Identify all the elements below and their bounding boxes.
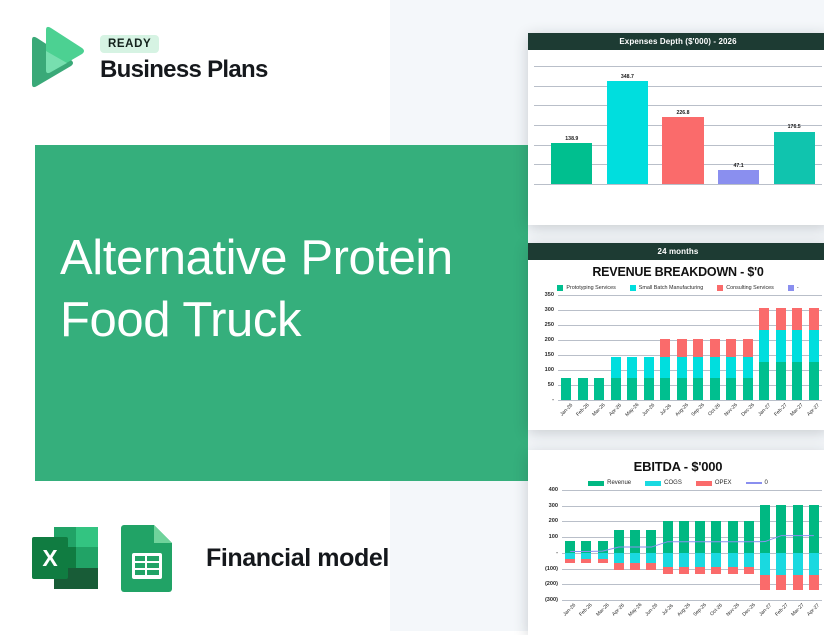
legend-swatch: [717, 285, 723, 291]
stack-segment: [760, 553, 770, 575]
ebitda-x-axis: Jan-26Feb-26Mar-26Apr-26May-26Jun-26Jul-…: [562, 600, 822, 613]
gridline: [534, 184, 822, 185]
legend-swatch: [696, 481, 712, 486]
stack-segment: [760, 505, 770, 553]
legend-label: OPEX: [715, 480, 732, 486]
financial-model-label: Financial model: [206, 544, 389, 573]
bar-segment: [718, 170, 759, 184]
stack-segment: [726, 378, 736, 400]
y-axis-tick-label: 300: [549, 503, 558, 509]
stack-segment: [711, 553, 721, 568]
google-sheets-icon: [116, 523, 182, 593]
revenue-months-header: 24 months: [528, 243, 824, 260]
x-axis-tick-label: Mar-27: [790, 602, 805, 617]
expenses-depth-card: Expenses Depth ($'000) - 2026 138.9348.7…: [528, 33, 824, 225]
x-axis-tick-label: Jun-26: [641, 402, 656, 417]
stack-segment: [614, 530, 624, 553]
x-axis-tick-label: Mar-27: [789, 402, 804, 417]
stacked-bar-column: [562, 490, 578, 600]
legend-swatch: [588, 481, 604, 486]
x-axis-tick: Nov-26: [723, 400, 739, 413]
x-axis-tick: Apr-26: [611, 600, 627, 613]
stacked-bar-column: [641, 295, 658, 400]
play-triangles-logo-icon: [24, 26, 86, 90]
microsoft-excel-icon: X: [32, 523, 98, 593]
x-axis-tick-label: Jun-26: [644, 602, 659, 617]
stack-segment: [565, 559, 575, 563]
stack-segment: [809, 505, 819, 553]
stacked-bar-column: [690, 295, 707, 400]
x-axis-tick: May-26: [624, 400, 641, 413]
legend-item: Consulting Services: [717, 285, 774, 291]
stack-segment: [744, 567, 754, 573]
bar-column: 138.9: [544, 66, 600, 184]
x-axis-tick: Mar-27: [790, 600, 806, 613]
y-axis-tick-label: 100: [545, 367, 554, 373]
stacked-bar-column: [773, 490, 789, 600]
stacked-bar-column: [643, 490, 659, 600]
y-axis-tick-label: 150: [545, 352, 554, 358]
x-axis-tick: Mar-26: [594, 600, 610, 613]
stack-segment: [630, 563, 640, 570]
y-axis-tick-label: 200: [549, 518, 558, 524]
stacked-bar-column: [660, 490, 676, 600]
stack-segment: [660, 339, 670, 357]
expenses-bars: 138.9348.7226.847.1176.5: [544, 66, 822, 184]
stack-segment: [646, 563, 656, 570]
x-axis-tick-label: Nov-26: [725, 602, 741, 618]
bar-segment: [551, 143, 592, 184]
stacked-bar-column: [627, 490, 643, 600]
stack-segment: [660, 378, 670, 400]
bar-value-label: 176.5: [788, 124, 801, 130]
stacked-bar-column: [578, 490, 594, 600]
stacked-bar-column: [558, 295, 575, 400]
stack-segment: [710, 339, 720, 357]
stack-segment: [614, 553, 624, 563]
stacked-bar-column: [756, 295, 773, 400]
stack-segment: [711, 567, 721, 573]
x-axis-tick-label: Nov-26: [723, 402, 739, 418]
y-axis-tick-label: 50: [548, 382, 554, 388]
expenses-chart-title: Expenses Depth ($'000) - 2026: [528, 33, 824, 50]
stack-segment: [679, 567, 689, 573]
legend-item: -: [788, 285, 799, 291]
stack-segment: [792, 362, 802, 400]
x-axis-tick-label: Jan-27: [758, 602, 773, 617]
x-axis-tick: Sep-26: [692, 600, 708, 613]
stack-segment: [663, 567, 673, 573]
x-axis-tick: Dec-26: [741, 600, 757, 613]
legend-label: COGS: [664, 480, 682, 486]
legend-item: OPEX: [696, 480, 732, 486]
stacked-bar-column: [806, 490, 822, 600]
x-axis-tick: Jul-26: [660, 600, 676, 613]
x-axis-tick-label: Jul-26: [661, 603, 675, 617]
bar-column: 47.1: [711, 66, 767, 184]
ebitda-plot-area: 400300200100-(100)(200)(300): [534, 490, 822, 600]
x-axis-tick-label: May-26: [624, 402, 640, 418]
stack-segment: [728, 567, 738, 573]
x-axis-tick-label: Apr-27: [806, 603, 821, 618]
financial-model-row: X Financial model: [32, 523, 389, 593]
y-axis-tick-label: 300: [545, 307, 554, 313]
revenue-x-axis: Jan-26Feb-26Mar-26Apr-26May-26Jun-26Jul-…: [558, 400, 822, 413]
stack-segment: [627, 357, 637, 378]
stack-segment: [809, 575, 819, 590]
bar-value-label: 226.8: [676, 110, 689, 116]
stack-segment: [759, 330, 769, 361]
stack-segment: [726, 357, 736, 378]
revenue-legend: Prototyping ServicesSmall Batch Manufact…: [534, 285, 822, 291]
bar-value-label: 348.7: [621, 74, 634, 80]
stack-segment: [776, 505, 786, 553]
y-axis-tick-label: (100): [545, 566, 558, 572]
legend-label: Consulting Services: [726, 285, 774, 291]
x-axis-tick: Jan-27: [757, 600, 773, 613]
stack-segment: [644, 378, 654, 400]
stacked-bar-column: [773, 295, 790, 400]
stacked-bar-column: [806, 295, 823, 400]
stack-segment: [744, 553, 754, 568]
stacked-bar-column: [575, 295, 592, 400]
stack-segment: [710, 378, 720, 400]
stack-segment: [711, 521, 721, 553]
stack-segment: [598, 559, 608, 563]
ebitda-bars: [562, 490, 822, 600]
x-axis-tick-label: Feb-26: [575, 402, 590, 417]
x-axis-tick: Feb-26: [578, 600, 594, 613]
x-axis-tick: Feb-27: [773, 400, 789, 413]
x-axis-tick: Nov-26: [725, 600, 741, 613]
stack-segment: [663, 521, 673, 553]
stacked-bar-column: [741, 490, 757, 600]
stack-segment: [759, 362, 769, 400]
stack-segment: [581, 559, 591, 563]
stack-segment: [561, 378, 571, 400]
x-axis-tick-label: Jan-27: [757, 402, 772, 417]
ready-badge: READY: [100, 35, 159, 53]
stacked-bar-column: [740, 295, 757, 400]
bar-segment: [774, 132, 815, 184]
x-axis-tick: Apr-27: [805, 400, 821, 413]
ebitda-y-axis: 400300200100-(100)(200)(300): [534, 490, 560, 600]
stack-segment: [594, 378, 604, 400]
stack-segment: [630, 553, 640, 563]
y-axis-tick-label: 200: [545, 337, 554, 343]
stack-segment: [726, 339, 736, 357]
x-axis-tick: Dec-26: [740, 400, 756, 413]
svg-text:X: X: [42, 545, 58, 571]
stacked-bar-column: [708, 490, 724, 600]
x-axis-tick-label: Aug-26: [674, 402, 690, 418]
x-axis-tick: Jan-26: [558, 400, 574, 413]
x-axis-tick-label: Aug-26: [676, 602, 692, 618]
stack-segment: [598, 541, 608, 553]
x-axis-tick-label: Sep-26: [693, 602, 709, 618]
x-axis-tick: Mar-26: [591, 400, 607, 413]
y-axis-tick-label: -: [556, 550, 558, 556]
stack-segment: [759, 308, 769, 330]
x-axis-tick: Aug-26: [674, 400, 690, 413]
x-axis-tick-label: Dec-26: [741, 602, 757, 618]
stack-segment: [646, 553, 656, 563]
ebitda-legend: RevenueCOGSOPEX0: [534, 480, 822, 486]
brand-name: Business Plans: [100, 58, 268, 82]
stack-segment: [793, 553, 803, 575]
stack-segment: [809, 553, 819, 575]
legend-swatch: [630, 285, 636, 291]
legend-label: -: [797, 285, 799, 291]
stack-segment: [695, 521, 705, 553]
legend-swatch: [746, 482, 762, 484]
x-axis-tick: Jun-26: [644, 600, 660, 613]
x-axis-tick-label: Dec-26: [740, 402, 756, 418]
x-axis-tick-label: Mar-26: [591, 402, 606, 417]
legend-item: Small Batch Manufacturing: [630, 285, 703, 291]
revenue-bars: [558, 295, 822, 400]
x-axis-tick-label: May-26: [627, 602, 643, 618]
y-axis-tick-label: 350: [545, 292, 554, 298]
x-axis-tick-label: Apr-26: [611, 603, 626, 618]
stack-segment: [581, 541, 591, 553]
legend-label: Revenue: [607, 480, 631, 486]
stack-segment: [776, 575, 786, 590]
stack-segment: [809, 362, 819, 400]
stack-segment: [679, 553, 689, 568]
stack-segment: [677, 357, 687, 378]
stack-segment: [677, 339, 687, 357]
legend-item: 0: [746, 480, 768, 486]
bar-column: 176.5: [766, 66, 822, 184]
x-axis-tick: Aug-26: [676, 600, 692, 613]
legend-item: Revenue: [588, 480, 631, 486]
revenue-chart-title: REVENUE BREAKDOWN - $'0: [534, 265, 822, 279]
stack-segment: [728, 521, 738, 553]
stacked-bar-column: [674, 295, 691, 400]
y-axis-tick-label: 400: [549, 487, 558, 493]
stack-segment: [776, 553, 786, 575]
stack-segment: [611, 378, 621, 400]
x-axis-tick-label: Jul-26: [658, 403, 672, 417]
x-axis-tick-label: Mar-26: [595, 602, 610, 617]
bar-column: 348.7: [600, 66, 656, 184]
stacked-bar-column: [595, 490, 611, 600]
stacked-bar-column: [692, 490, 708, 600]
stack-segment: [693, 339, 703, 357]
ebitda-chart-title: EBITDA - $'000: [534, 459, 822, 474]
x-axis-tick-label: Feb-26: [579, 602, 594, 617]
x-axis-tick-label: Jan-26: [563, 602, 578, 617]
x-axis-tick-label: Jan-26: [559, 402, 574, 417]
legend-label: Small Batch Manufacturing: [639, 285, 703, 291]
x-axis-tick: Feb-26: [574, 400, 590, 413]
legend-label: Prototyping Services: [566, 285, 615, 291]
stack-segment: [693, 378, 703, 400]
stacked-bar-column: [707, 295, 724, 400]
stack-segment: [744, 521, 754, 553]
x-axis-tick: Oct-26: [707, 400, 723, 413]
stack-segment: [728, 553, 738, 568]
stack-segment: [793, 575, 803, 590]
y-axis-tick-label: -: [552, 397, 554, 403]
x-axis-tick: Apr-26: [607, 400, 623, 413]
x-axis-tick-label: Apr-26: [608, 403, 623, 418]
bar-value-label: 138.9: [565, 136, 578, 142]
stack-segment: [792, 330, 802, 361]
bar-segment: [662, 117, 703, 184]
legend-item: Prototyping Services: [557, 285, 615, 291]
stacked-bar-column: [608, 295, 625, 400]
revenue-plot-area: 35030025020015010050-: [534, 295, 822, 400]
x-axis-tick: Feb-27: [773, 600, 789, 613]
stacked-bar-column: [757, 490, 773, 600]
stacked-bar-column: [591, 295, 608, 400]
stack-segment: [693, 357, 703, 378]
x-axis-tick: Jan-27: [756, 400, 772, 413]
stack-segment: [743, 357, 753, 378]
stack-segment: [644, 357, 654, 378]
stack-segment: [695, 567, 705, 573]
stacked-bar-column: [723, 295, 740, 400]
stack-segment: [710, 357, 720, 378]
y-axis-tick-label: (200): [545, 581, 558, 587]
stack-segment: [611, 357, 621, 378]
stack-segment: [792, 308, 802, 330]
stack-segment: [663, 553, 673, 568]
ebitda-card: EBITDA - $'000 RevenueCOGSOPEX0 40030020…: [528, 450, 824, 635]
legend-swatch: [645, 481, 661, 486]
stacked-bar-column: [611, 490, 627, 600]
page-title: Alternative Protein Food Truck: [60, 228, 480, 351]
stack-segment: [743, 339, 753, 357]
y-axis-tick-label: 100: [549, 534, 558, 540]
brand-text: READY Business Plans: [100, 35, 268, 82]
stack-segment: [630, 530, 640, 553]
x-axis-tick-label: Apr-27: [806, 403, 821, 418]
stack-segment: [776, 330, 786, 361]
x-axis-tick: Jul-26: [657, 400, 673, 413]
x-axis-tick-label: Feb-27: [774, 602, 789, 617]
stacked-bar-column: [789, 295, 806, 400]
stack-segment: [614, 563, 624, 570]
stack-segment: [743, 378, 753, 400]
stack-segment: [565, 541, 575, 553]
revenue-breakdown-card: 24 months REVENUE BREAKDOWN - $'0 Protot…: [528, 243, 824, 430]
bar-value-label: 47.1: [734, 163, 744, 169]
brand-logo: READY Business Plans: [24, 26, 268, 90]
legend-swatch: [557, 285, 563, 291]
legend-swatch: [788, 285, 794, 291]
stack-segment: [776, 362, 786, 400]
x-axis-tick: May-26: [627, 600, 644, 613]
expenses-plot-area: 138.9348.7226.847.1176.5: [534, 56, 822, 194]
stack-segment: [776, 308, 786, 330]
stack-segment: [646, 530, 656, 553]
stack-segment: [793, 505, 803, 553]
x-axis-tick: Jan-26: [562, 600, 578, 613]
stack-segment: [809, 308, 819, 330]
stack-segment: [627, 378, 637, 400]
stack-segment: [677, 378, 687, 400]
bar-segment: [607, 81, 648, 184]
x-axis-tick: Oct-26: [708, 600, 724, 613]
stack-segment: [695, 553, 705, 568]
revenue-y-axis: 35030025020015010050-: [534, 295, 556, 400]
x-axis-tick-label: Oct-26: [709, 603, 724, 618]
stacked-bar-column: [624, 295, 641, 400]
stacked-bar-column: [657, 295, 674, 400]
legend-label: 0: [765, 480, 768, 486]
stacked-bar-column: [676, 490, 692, 600]
x-axis-tick-label: Feb-27: [773, 402, 788, 417]
stack-segment: [760, 575, 770, 590]
y-axis-tick-label: 250: [545, 322, 554, 328]
x-axis-tick: Sep-26: [690, 400, 706, 413]
stack-segment: [578, 378, 588, 400]
stacked-bar-column: [725, 490, 741, 600]
stack-segment: [809, 330, 819, 361]
x-axis-tick-label: Oct-26: [707, 403, 722, 418]
legend-item: COGS: [645, 480, 682, 486]
stack-segment: [660, 357, 670, 378]
x-axis-tick: Jun-26: [641, 400, 657, 413]
x-axis-tick-label: Sep-26: [690, 402, 706, 418]
x-axis-tick: Mar-27: [789, 400, 805, 413]
stacked-bar-column: [790, 490, 806, 600]
bar-column: 226.8: [655, 66, 711, 184]
y-axis-tick-label: (300): [545, 597, 558, 603]
stack-segment: [679, 521, 689, 553]
x-axis-tick: Apr-27: [806, 600, 822, 613]
